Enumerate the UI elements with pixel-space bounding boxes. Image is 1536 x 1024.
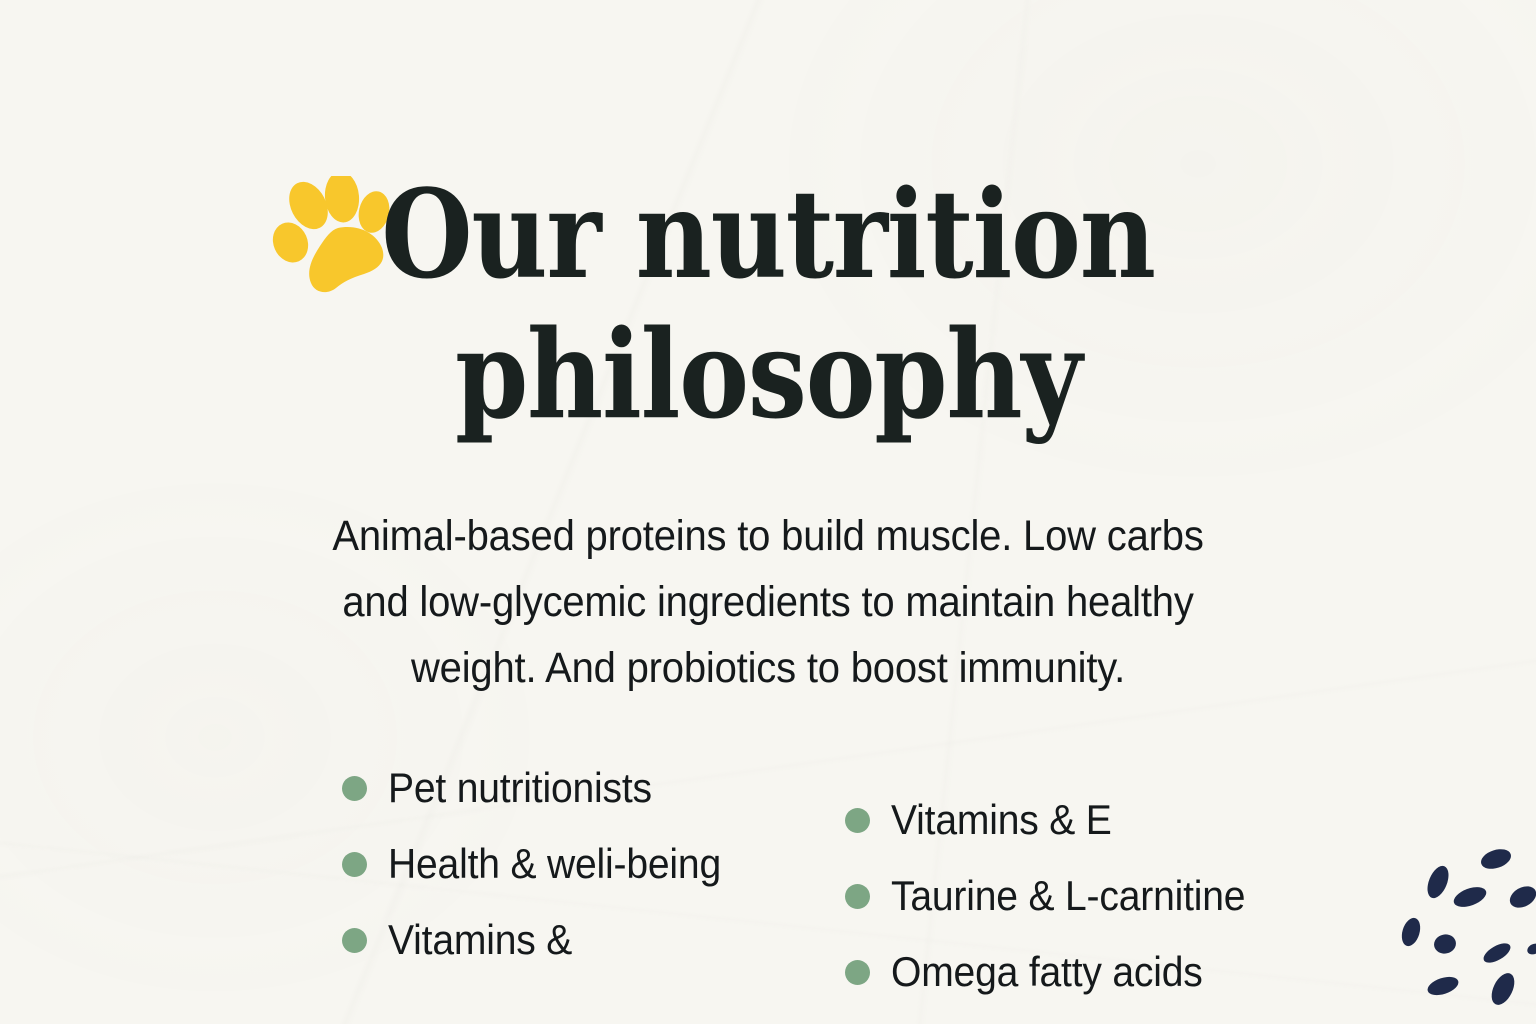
bullet-dot-icon [845, 960, 870, 985]
feature-list-right: Vitamins & E Taurine & L-carnitine Omega… [845, 782, 1272, 1010]
feature-list-left: Pet nutritionists Health & weli-being Vi… [342, 750, 746, 978]
list-item[interactable]: Pet nutritionists [342, 750, 746, 826]
list-item[interactable]: Vitamins & [342, 902, 746, 978]
bullet-dot-icon [845, 808, 870, 833]
feature-label: Vitamins & [388, 917, 572, 963]
bullet-dot-icon [342, 776, 367, 801]
feature-label: Pet nutritionists [388, 765, 652, 811]
header: Our nutrition philosophy [0, 164, 1536, 444]
paragraph-line-2: and low-glycemic ingredients to maintain… [342, 578, 1193, 626]
bullet-dot-icon [342, 928, 367, 953]
title-line-1: Our nutrition [381, 162, 1154, 306]
slide-canvas: Our nutrition philosophy Animal-based pr… [0, 0, 1536, 1024]
list-item[interactable]: Health & weli-being [342, 826, 746, 902]
feature-label: Omega fatty acids [891, 949, 1203, 995]
bullet-dot-icon [845, 884, 870, 909]
bullet-dot-icon [342, 852, 367, 877]
title-line-2: philosophy [455, 302, 1081, 446]
intro-paragraph: Animal-based proteins to build muscle. L… [303, 503, 1233, 701]
heading-row: Our nutrition philosophy [0, 164, 1536, 444]
feature-lists: Pet nutritionists Health & weli-being Vi… [0, 736, 1536, 996]
list-item[interactable]: Taurine & L-carnitine [845, 858, 1272, 934]
paragraph-line-3: weight. And probiotics to boost immunity… [411, 644, 1125, 692]
feature-label: Vitamins & E [891, 797, 1112, 843]
feature-label: Health & weli-being [388, 841, 721, 887]
list-item[interactable]: Omega fatty acids [845, 934, 1272, 1010]
page-title: Our nutrition philosophy [108, 164, 1429, 444]
feature-label: Taurine & L-carnitine [891, 873, 1245, 919]
list-item[interactable]: Vitamins & E [845, 782, 1272, 858]
paragraph-line-1: Animal-based proteins to build muscle. L… [332, 512, 1203, 560]
